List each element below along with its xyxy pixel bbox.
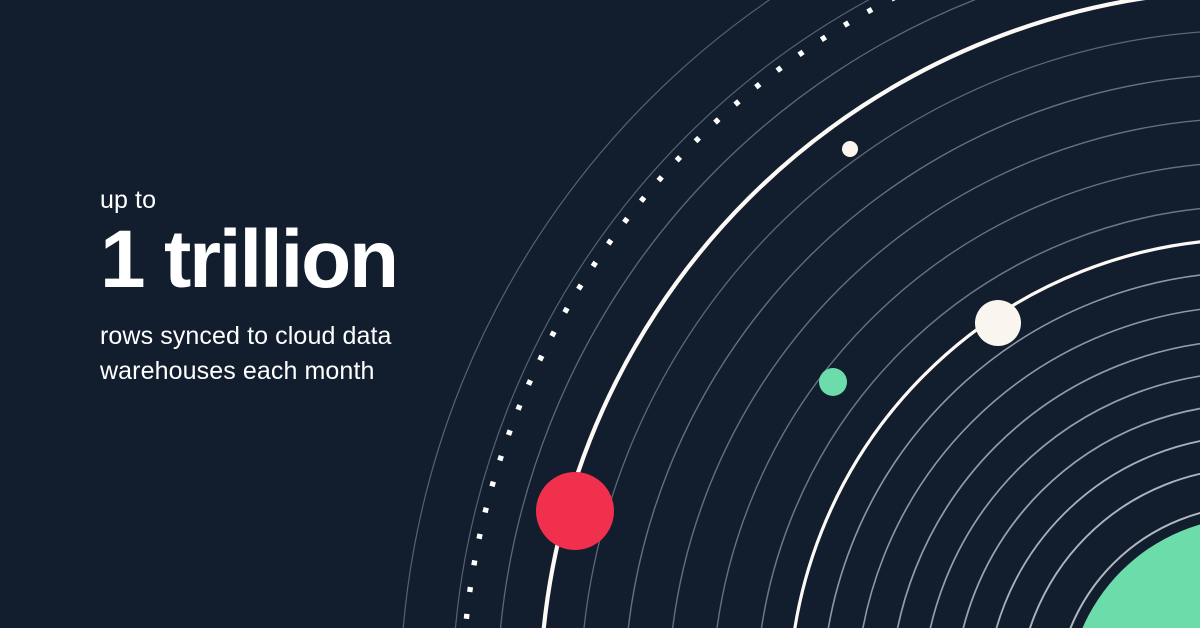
orbit-ring-4 [580,30,1200,628]
planet-cream-small [842,141,858,157]
orbit-ring-bright-outer [540,0,1200,628]
planet-green [819,368,847,396]
planet-red [536,472,614,550]
orbit-ring-7 [712,162,1200,628]
orbit-ring-6 [668,118,1200,628]
planet-group [536,141,1021,550]
promo-banner: up to 1 trillion rows synced to cloud da… [0,0,1200,628]
corner-sphere-green [1067,517,1200,628]
subtitle-text: rows synced to cloud data warehouses eac… [100,319,470,390]
page-title: 1 trillion [100,221,530,299]
planet-cream-large [975,300,1021,346]
copy-block: up to 1 trillion rows synced to cloud da… [100,186,530,390]
orbit-ring-5 [624,74,1200,628]
corner-sphere-group [1067,517,1200,628]
eyebrow-text: up to [100,186,530,215]
bright-orbit-group [540,0,1200,628]
